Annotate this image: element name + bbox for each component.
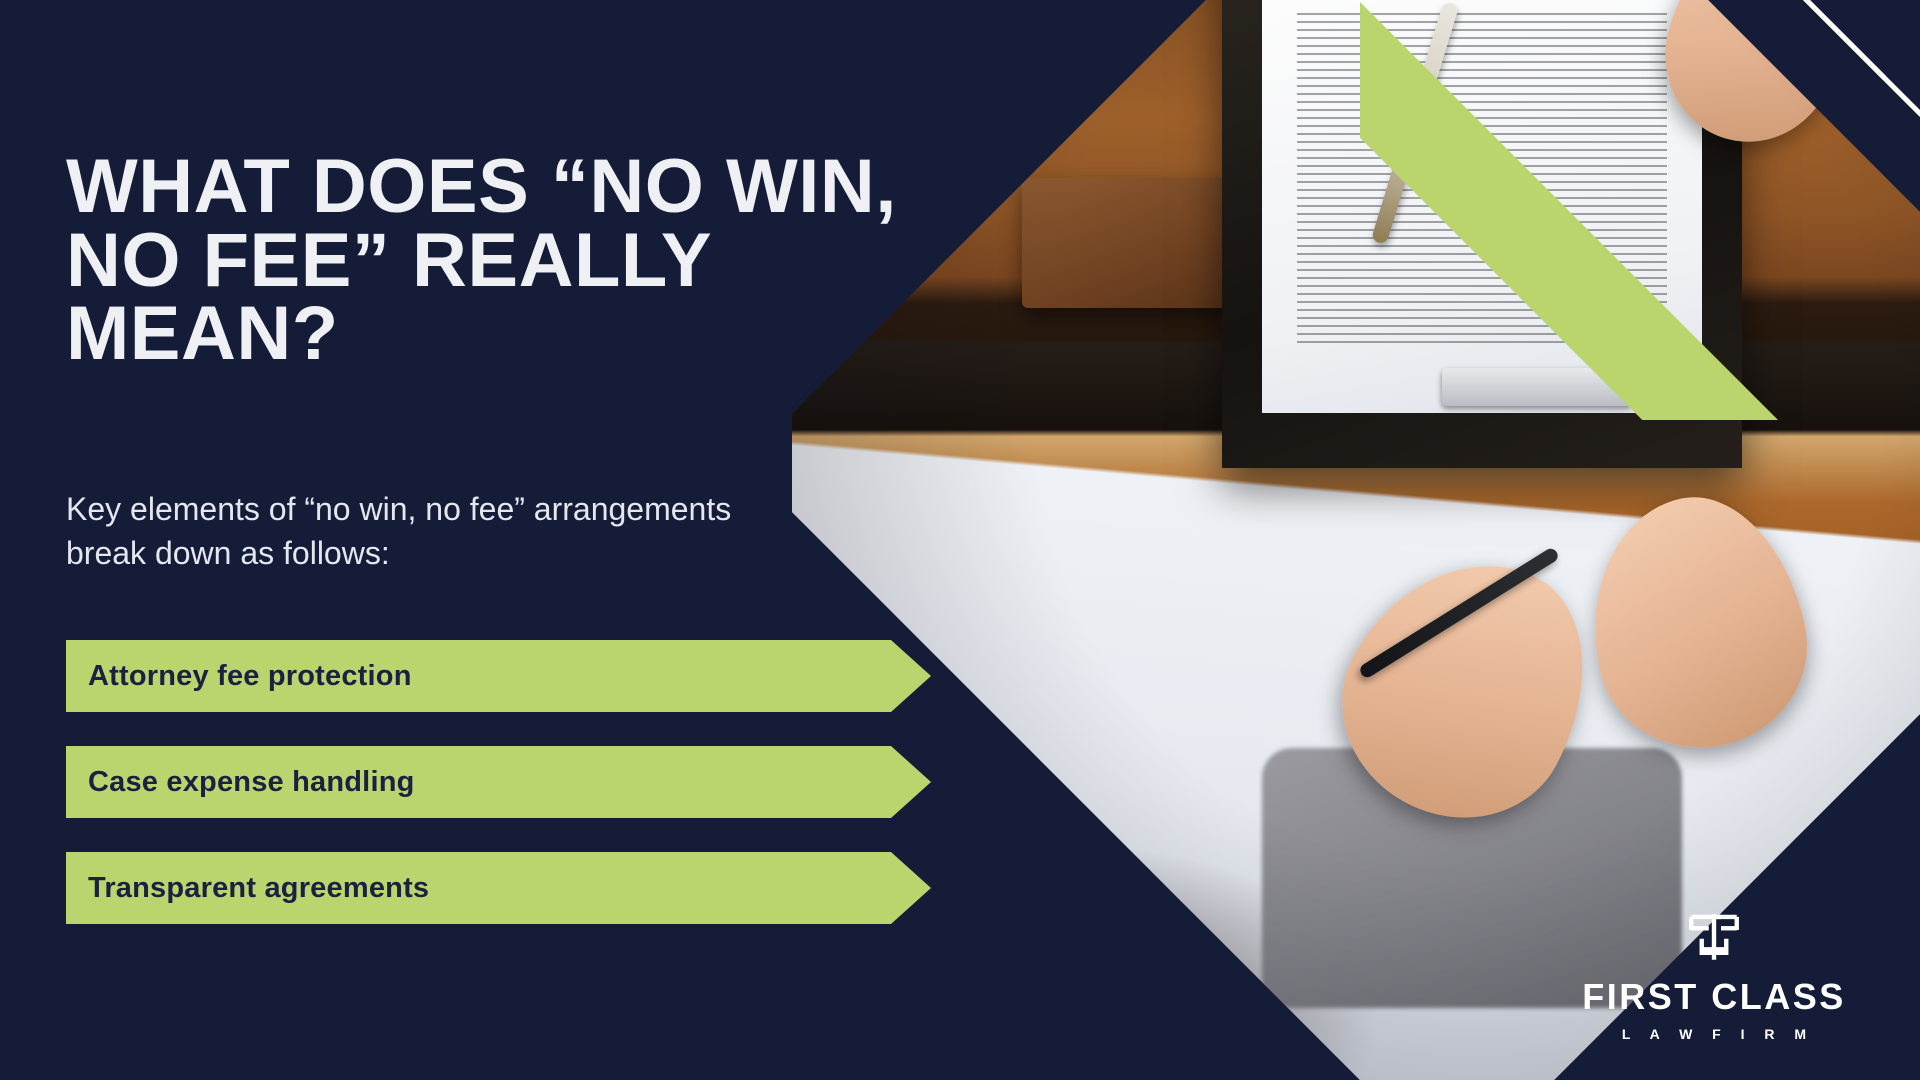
banner-label: Transparent agreements [66, 872, 429, 905]
list-item[interactable]: Transparent agreements [66, 852, 931, 924]
banner-label: Case expense handling [66, 766, 415, 799]
infographic-slide: WHAT DOES “NO WIN, NO FEE” REALLY MEAN? … [0, 0, 1920, 1080]
page-title: WHAT DOES “NO WIN, NO FEE” REALLY MEAN? [66, 150, 946, 371]
logo-name: FIRST CLASS [1564, 979, 1864, 1015]
banner-label: Attorney fee protection [66, 660, 412, 693]
content-column: WHAT DOES “NO WIN, NO FEE” REALLY MEAN? … [0, 0, 960, 1080]
list-item[interactable]: Case expense handling [66, 746, 931, 818]
list-item[interactable]: Attorney fee protection [66, 640, 931, 712]
key-elements-list: Attorney fee protection Case expense han… [66, 640, 956, 958]
logo-tagline: L A W F I R M [1564, 1026, 1864, 1042]
subtitle-text: Key elements of “no win, no fee” arrange… [66, 487, 766, 575]
brand-logo[interactable]: FIRST CLASS L A W F I R M [1564, 909, 1864, 1042]
fc-monogram-icon [1686, 909, 1742, 965]
